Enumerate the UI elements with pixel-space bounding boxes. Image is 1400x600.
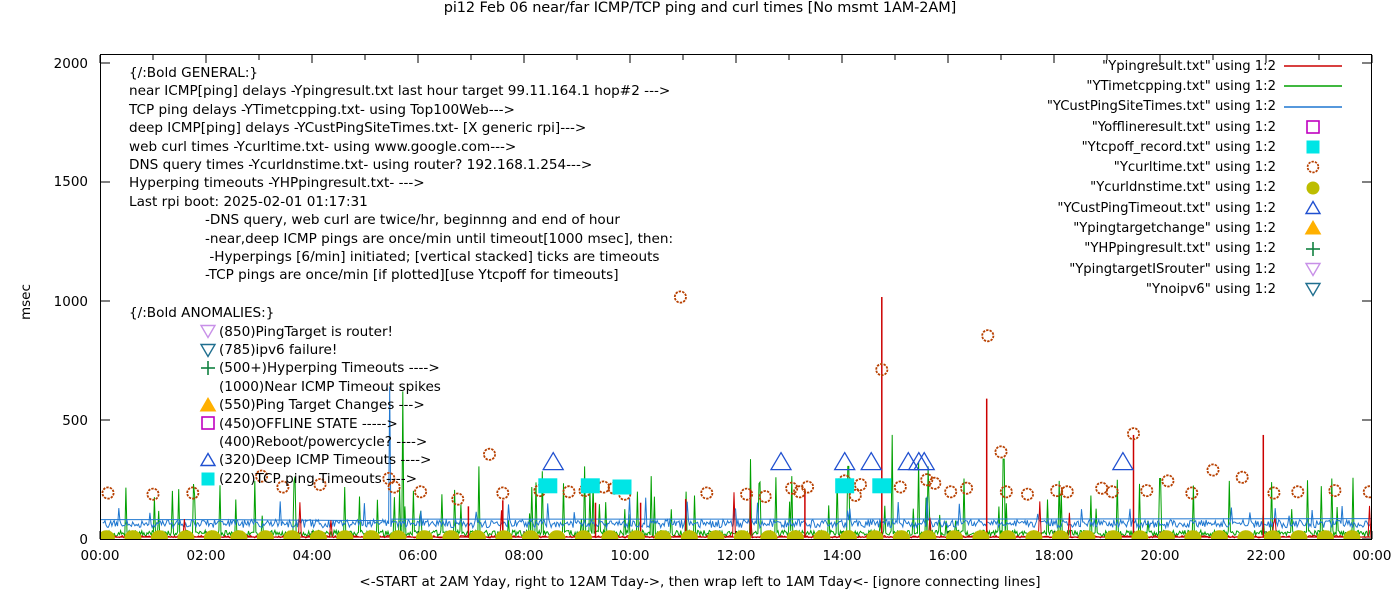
chart-root: pi12 Feb 06 near/far ICMP/TCP ping and c… <box>0 0 1400 600</box>
general-annotation-block: {/:Bold GENERAL:} near ICMP[ping] delays… <box>129 64 673 285</box>
legend-filled-circle-icon <box>1284 178 1342 198</box>
markers-Ytcpoff_record <box>539 479 891 494</box>
anomaly-label: (400)Reboot/powercycle? ----> <box>219 434 427 450</box>
anomaly-open-down-triangle-icon <box>197 341 219 359</box>
x-tick-1600: 16:00 <box>908 548 988 564</box>
legend-label: "Ypingtargetchange" using 1:2 <box>1073 221 1276 236</box>
legend-open-circle-icon <box>1284 157 1342 177</box>
legend-entry-4: "Ytcpoff_record.txt" using 1:2 <box>1047 137 1342 157</box>
anomaly-label: (1000)Near ICMP Timeout spikes <box>219 379 441 395</box>
legend-filled-triangle-icon <box>1284 218 1342 238</box>
general-line-3: deep ICMP[ping] delays -YCustPingSiteTim… <box>129 119 673 137</box>
legend-entry-8: "Ypingtargetchange" using 1:2 <box>1047 218 1342 238</box>
general-line-5: DNS query times -Ycurldnstime.txt- using… <box>129 156 673 174</box>
y-tick-500: 500 <box>8 413 88 429</box>
legend-open-down-triangle-icon <box>1284 259 1342 279</box>
anomaly-label: (850)PingTarget is router! <box>219 324 393 340</box>
anomaly-no-icon <box>197 433 219 451</box>
x-tick-1800: 18:00 <box>1014 548 1094 564</box>
anomaly-label: (500+)Hyperping Timeouts ----> <box>219 360 440 376</box>
anomaly-label: (220)TCP ping Timeouts ----> <box>219 471 417 487</box>
anomaly-filled-triangle-icon <box>197 396 219 414</box>
anomaly-row-3: (1000)Near ICMP Timeout spikes <box>197 378 441 396</box>
anomalies-annotation-block: {/:Bold ANOMALIES:} (850)PingTarget is r… <box>129 304 441 488</box>
anomaly-label: (450)OFFLINE STATE -----> <box>219 416 398 432</box>
legend-label: "Ytcpoff_record.txt" using 1:2 <box>1082 140 1276 155</box>
anomaly-label: (785)ipv6 failure! <box>219 342 337 358</box>
anomaly-label: (550)Ping Target Changes ---> <box>219 397 425 413</box>
anomaly-row-1: (785)ipv6 failure! <box>197 341 441 359</box>
legend-entry-5: "Ycurltime.txt" using 1:2 <box>1047 157 1342 177</box>
x-axis-label: <-START at 2AM Yday, right to 12AM Tday-… <box>0 574 1400 590</box>
legend-entry-9: "YHPpingresult.txt" using 1:2 <box>1047 239 1342 259</box>
legend-entry-6: "Ycurldnstime.txt" using 1:2 <box>1047 178 1342 198</box>
anomaly-row-0: (850)PingTarget is router! <box>197 322 441 340</box>
x-tick-1200: 12:00 <box>696 548 776 564</box>
legend-open-down-triangle-icon <box>1284 279 1342 299</box>
anomaly-row-4: (550)Ping Target Changes ---> <box>197 396 441 414</box>
legend-label: "Ypingresult.txt" using 1:2 <box>1102 59 1276 74</box>
x-tick-0600: 06:00 <box>378 548 458 564</box>
legend-label: "YCustPingSiteTimes.txt" using 1:2 <box>1047 99 1276 114</box>
y-tick-1500: 1500 <box>8 174 88 190</box>
legend-open-triangle-icon <box>1284 198 1342 218</box>
y-tick-0: 0 <box>8 532 88 548</box>
anomaly-row-2: (500+)Hyperping Timeouts ----> <box>197 359 441 377</box>
legend-entry-1: "YTimetcpping.txt" using 1:2 <box>1047 76 1342 96</box>
y-tick-1000: 1000 <box>8 294 88 310</box>
general-note-3: -Hyperpings [6/min] initiated; [vertical… <box>129 248 673 266</box>
general-line-4: web curl times -Ycurltime.txt- using www… <box>129 138 673 156</box>
legend-label: "Ynoipv6" using 1:2 <box>1146 282 1276 297</box>
markers-YCustPingTimeout <box>543 453 1133 470</box>
markers-Ycurldnstime <box>98 531 1360 545</box>
legend-label: "Yofflineresult.txt" using 1:2 <box>1092 120 1276 135</box>
x-tick-1400: 14:00 <box>802 548 882 564</box>
anomaly-row-8: (220)TCP ping Timeouts ----> <box>197 470 441 488</box>
general-note-2: -near,deep ICMP pings are once/min until… <box>129 230 673 248</box>
legend-label: "YTimetcpping.txt" using 1:2 <box>1086 79 1276 94</box>
anomaly-label: (320)Deep ICMP Timeouts ----> <box>219 452 431 468</box>
legend-label: "YpingtargetISrouter" using 1:2 <box>1069 262 1276 277</box>
anomaly-plus-icon <box>197 359 219 377</box>
x-tick-2200: 22:00 <box>1226 548 1306 564</box>
anomaly-filled-square-icon <box>197 470 219 488</box>
anomalies-heading: {/:Bold ANOMALIES:} <box>129 304 441 322</box>
legend-label: "YCustPingTimeout.txt" using 1:2 <box>1057 201 1276 216</box>
x-tick-1000: 10:00 <box>590 548 670 564</box>
legend-line-icon <box>1284 76 1342 96</box>
legend-entry-2: "YCustPingSiteTimes.txt" using 1:2 <box>1047 97 1342 117</box>
anomaly-open-triangle-icon <box>197 451 219 469</box>
anomaly-open-square-icon <box>197 414 219 432</box>
general-line-6: Hyperping timeouts -YHPpingresult.txt- -… <box>129 174 673 192</box>
legend-entry-7: "YCustPingTimeout.txt" using 1:2 <box>1047 198 1342 218</box>
x-tick-0400: 04:00 <box>272 548 352 564</box>
anomaly-row-6: (400)Reboot/powercycle? ----> <box>197 433 441 451</box>
legend-line-icon <box>1284 97 1342 117</box>
anomaly-row-7: (320)Deep ICMP Timeouts ----> <box>197 451 441 469</box>
general-line-1: near ICMP[ping] delays -Ypingresult.txt … <box>129 82 673 100</box>
anomaly-open-down-triangle-icon <box>197 322 219 340</box>
legend: "Ypingresult.txt" using 1:2"YTimetcpping… <box>1047 56 1342 300</box>
general-note-1: -DNS query, web curl are twice/hr, begin… <box>129 211 673 229</box>
legend-entry-11: "Ynoipv6" using 1:2 <box>1047 279 1342 299</box>
x-tick-0000a: 00:00 <box>60 548 140 564</box>
legend-entry-3: "Yofflineresult.txt" using 1:2 <box>1047 117 1342 137</box>
legend-open-square-icon <box>1284 117 1342 137</box>
x-tick-0200: 02:00 <box>166 548 246 564</box>
general-note-4: -TCP pings are once/min [if plotted][use… <box>129 266 673 284</box>
general-heading: {/:Bold GENERAL:} <box>129 64 673 82</box>
x-tick-2000: 20:00 <box>1120 548 1200 564</box>
x-tick-0000b: 00:00 <box>1332 548 1400 564</box>
x-tick-0800: 08:00 <box>484 548 564 564</box>
legend-entry-0: "Ypingresult.txt" using 1:2 <box>1047 56 1342 76</box>
general-line-7: Last rpi boot: 2025-02-01 01:17:31 <box>129 193 673 211</box>
y-tick-2000: 2000 <box>8 56 88 72</box>
anomaly-row-5: (450)OFFLINE STATE -----> <box>197 414 441 432</box>
legend-entry-10: "YpingtargetISrouter" using 1:2 <box>1047 259 1342 279</box>
legend-label: "Ycurldnstime.txt" using 1:2 <box>1090 180 1276 195</box>
legend-label: "Ycurltime.txt" using 1:2 <box>1114 160 1276 175</box>
legend-filled-square-icon <box>1284 137 1342 157</box>
page-title: pi12 Feb 06 near/far ICMP/TCP ping and c… <box>0 0 1400 16</box>
general-line-2: TCP ping delays -YTimetcpping.txt- using… <box>129 101 673 119</box>
legend-line-icon <box>1284 56 1342 76</box>
legend-label: "YHPpingresult.txt" using 1:2 <box>1084 241 1276 256</box>
anomaly-no-icon <box>197 378 219 396</box>
legend-plus-icon <box>1284 239 1342 259</box>
